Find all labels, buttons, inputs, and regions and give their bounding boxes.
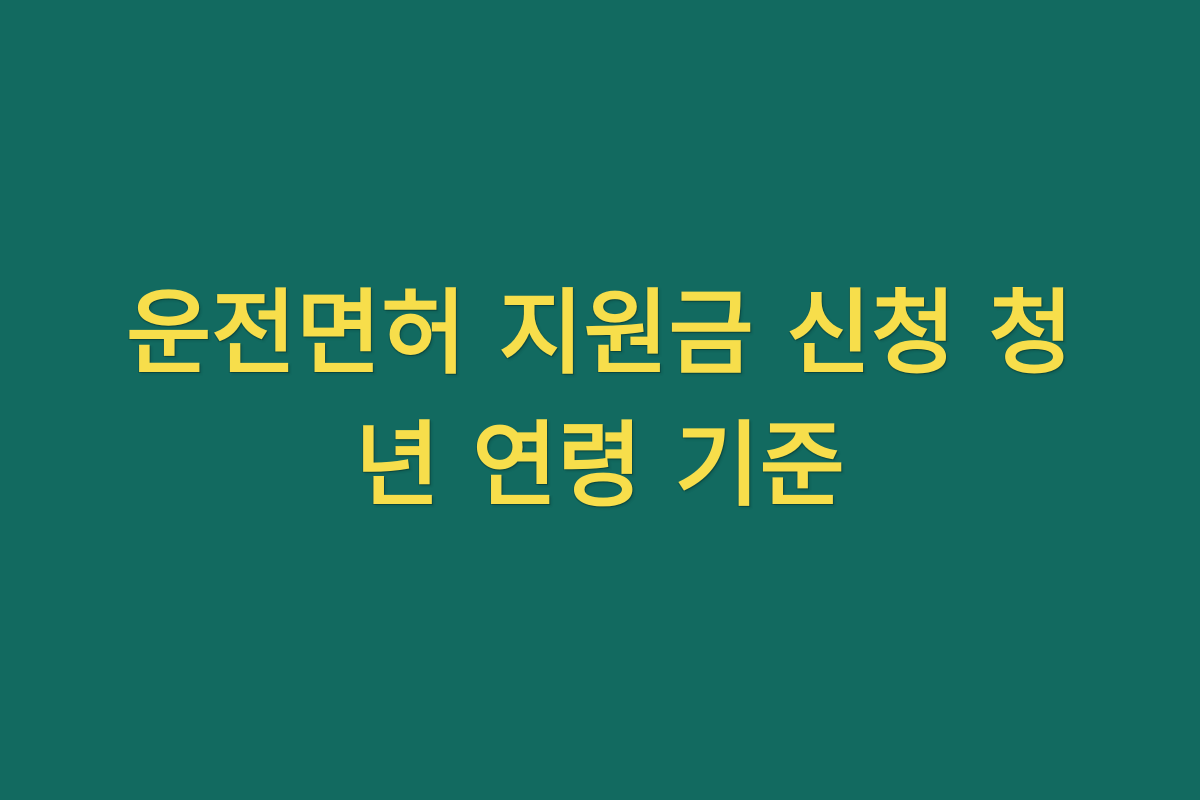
banner-canvas: 운전면허 지원금 신청 청 년 연령 기준 xyxy=(0,0,1200,800)
headline-text: 운전면허 지원금 신청 청 년 연령 기준 xyxy=(95,268,1105,533)
